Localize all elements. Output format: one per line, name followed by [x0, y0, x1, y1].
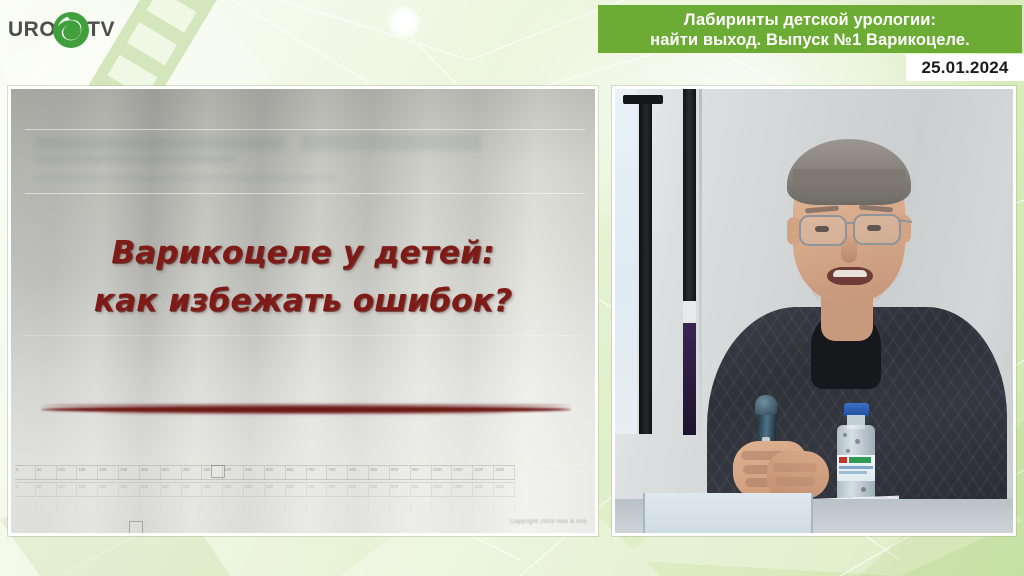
slide-ghost-rule-2 [25, 193, 585, 194]
slide-ruler-graphic: 050100150 200250300350 400450500550 6006… [15, 465, 515, 513]
ruler-band-bottom: 050100150 200250300350 400450500550 6006… [15, 482, 515, 497]
header-title-line-1: Лабиринты детской урологии: [684, 10, 936, 30]
slide-ghost-rule-1 [25, 129, 585, 130]
uro-tv-leaf-circle-logo-icon [51, 10, 91, 50]
speaker-teeth [833, 270, 867, 277]
slide-copyright-text: Copyright 2003 Nov & Ilus [510, 519, 587, 525]
thin-pole [699, 89, 702, 437]
stand-post-left-cap [623, 95, 663, 104]
uro-tv-logo[interactable]: URO TV [8, 6, 128, 54]
slide-title-line-2: как избежать ошибок? [11, 277, 595, 325]
slide-title-line-1: Варикоцеле у детей: [11, 229, 595, 277]
ruler-band-top: 050100150 200250300350 400450500550 6006… [15, 465, 515, 480]
slide-ghost-text-3 [35, 155, 235, 163]
slide-ghost-text-1 [35, 137, 285, 150]
slide-title-underline [41, 402, 571, 416]
broadcast-date-badge: 25.01.2024 [906, 54, 1024, 81]
header-title-bar: Лабиринты детской урологии: найти выход.… [598, 5, 1022, 53]
slide-title: Варикоцеле у детей: как избежать ошибок? [11, 229, 595, 325]
broadcast-date-text: 25.01.2024 [921, 58, 1008, 78]
slide-ghost-text-2 [301, 135, 481, 150]
speaker-hand-right [767, 451, 829, 499]
stand-post-left [639, 97, 652, 434]
logo-text-tv: TV [87, 18, 115, 42]
glow-dot-decor [386, 4, 422, 40]
glasses-lens-left [799, 215, 847, 246]
speaker-video-panel[interactable] [612, 86, 1016, 536]
glasses-lens-right [853, 214, 901, 245]
slide-ghost-square-2 [129, 521, 143, 534]
speaker-chin [811, 285, 885, 305]
room-glass-partition [643, 493, 813, 533]
video-frame [615, 89, 1013, 533]
room-window [615, 89, 637, 434]
presentation-slide-panel[interactable]: Варикоцеле у детей: как избежать ошибок?… [8, 86, 598, 536]
glasses-bridge [846, 222, 855, 224]
slide-ghost-rule-3 [25, 335, 585, 336]
logo-text-uro: URO [8, 18, 56, 42]
slide-ghost-text-4 [35, 175, 335, 182]
ruler-ticks [15, 501, 515, 510]
speaker-nose [841, 235, 857, 263]
stand-post-right-lower [683, 323, 696, 435]
water-bottle-label [837, 455, 875, 481]
stand-post-right-band [683, 301, 696, 323]
microphone-head [755, 395, 777, 415]
header-title-line-2: найти выход. Выпуск №1 Варикоцеле. [650, 30, 970, 50]
